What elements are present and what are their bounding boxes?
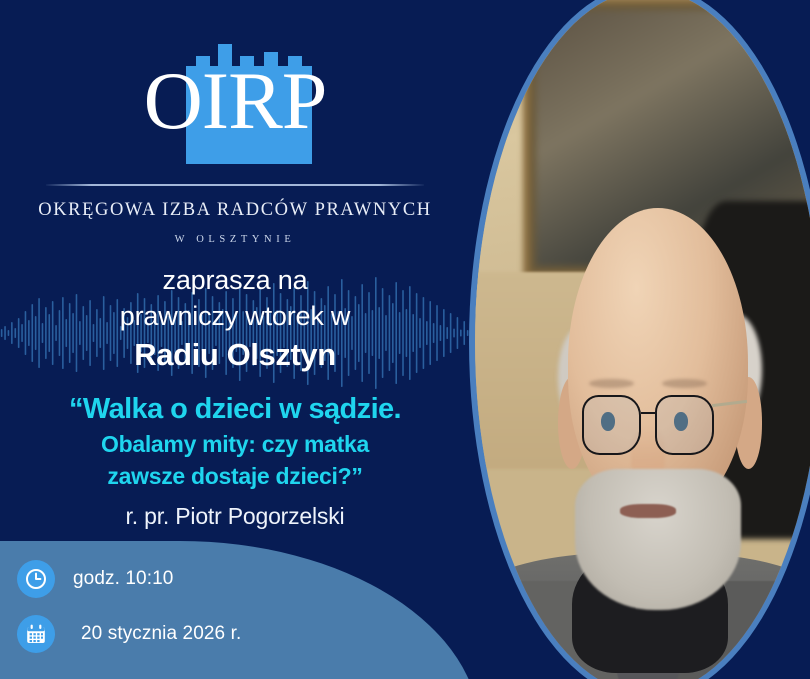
speaker-portrait <box>469 0 810 679</box>
organization-city: W OLSZTYNIE <box>0 234 470 245</box>
event-title-line-3: zawsze dostaje dzieci?” <box>0 460 470 492</box>
logo-mark: OIRP <box>102 22 368 164</box>
detail-row-time: godz. 10:10 <box>17 560 173 598</box>
oirp-logo: OIRP OKRĘGOWA IZBA RADCÓW PRAWNYCH W OLS… <box>0 22 470 245</box>
event-title-line-2: Obalamy mity: czy matka <box>0 428 470 460</box>
event-title-line-1: “Walka o dzieci w sądzie. <box>0 390 470 428</box>
invitation-line-2: prawniczy wtorek w <box>0 298 470 334</box>
event-title: “Walka o dzieci w sądzie. Obalamy mity: … <box>0 390 470 492</box>
speaker-name: r. pr. Piotr Pogorzelski <box>0 503 470 530</box>
detail-row-date: 20 stycznia 2026 r. <box>17 615 241 653</box>
details-list: godz. 10:10 <box>0 541 470 679</box>
event-poster: OIRP OKRĘGOWA IZBA RADCÓW PRAWNYCH W OLS… <box>0 0 810 679</box>
detail-date-label: 20 stycznia 2026 r. <box>81 623 241 645</box>
detail-time-label: godz. 10:10 <box>73 568 173 590</box>
invitation-line-1: zaprasza na <box>0 262 470 298</box>
logo-wordmark: OIRP <box>102 60 368 142</box>
organization-name: OKRĘGOWA IZBA RADCÓW PRAWNYCH <box>0 200 470 221</box>
invitation-text: zaprasza na prawniczy wtorek w Radiu Ols… <box>0 262 470 376</box>
logo-divider <box>46 184 424 186</box>
invitation-station: Radiu Olsztyn <box>0 334 470 376</box>
clock-icon <box>17 560 55 598</box>
calendar-icon <box>17 615 55 653</box>
